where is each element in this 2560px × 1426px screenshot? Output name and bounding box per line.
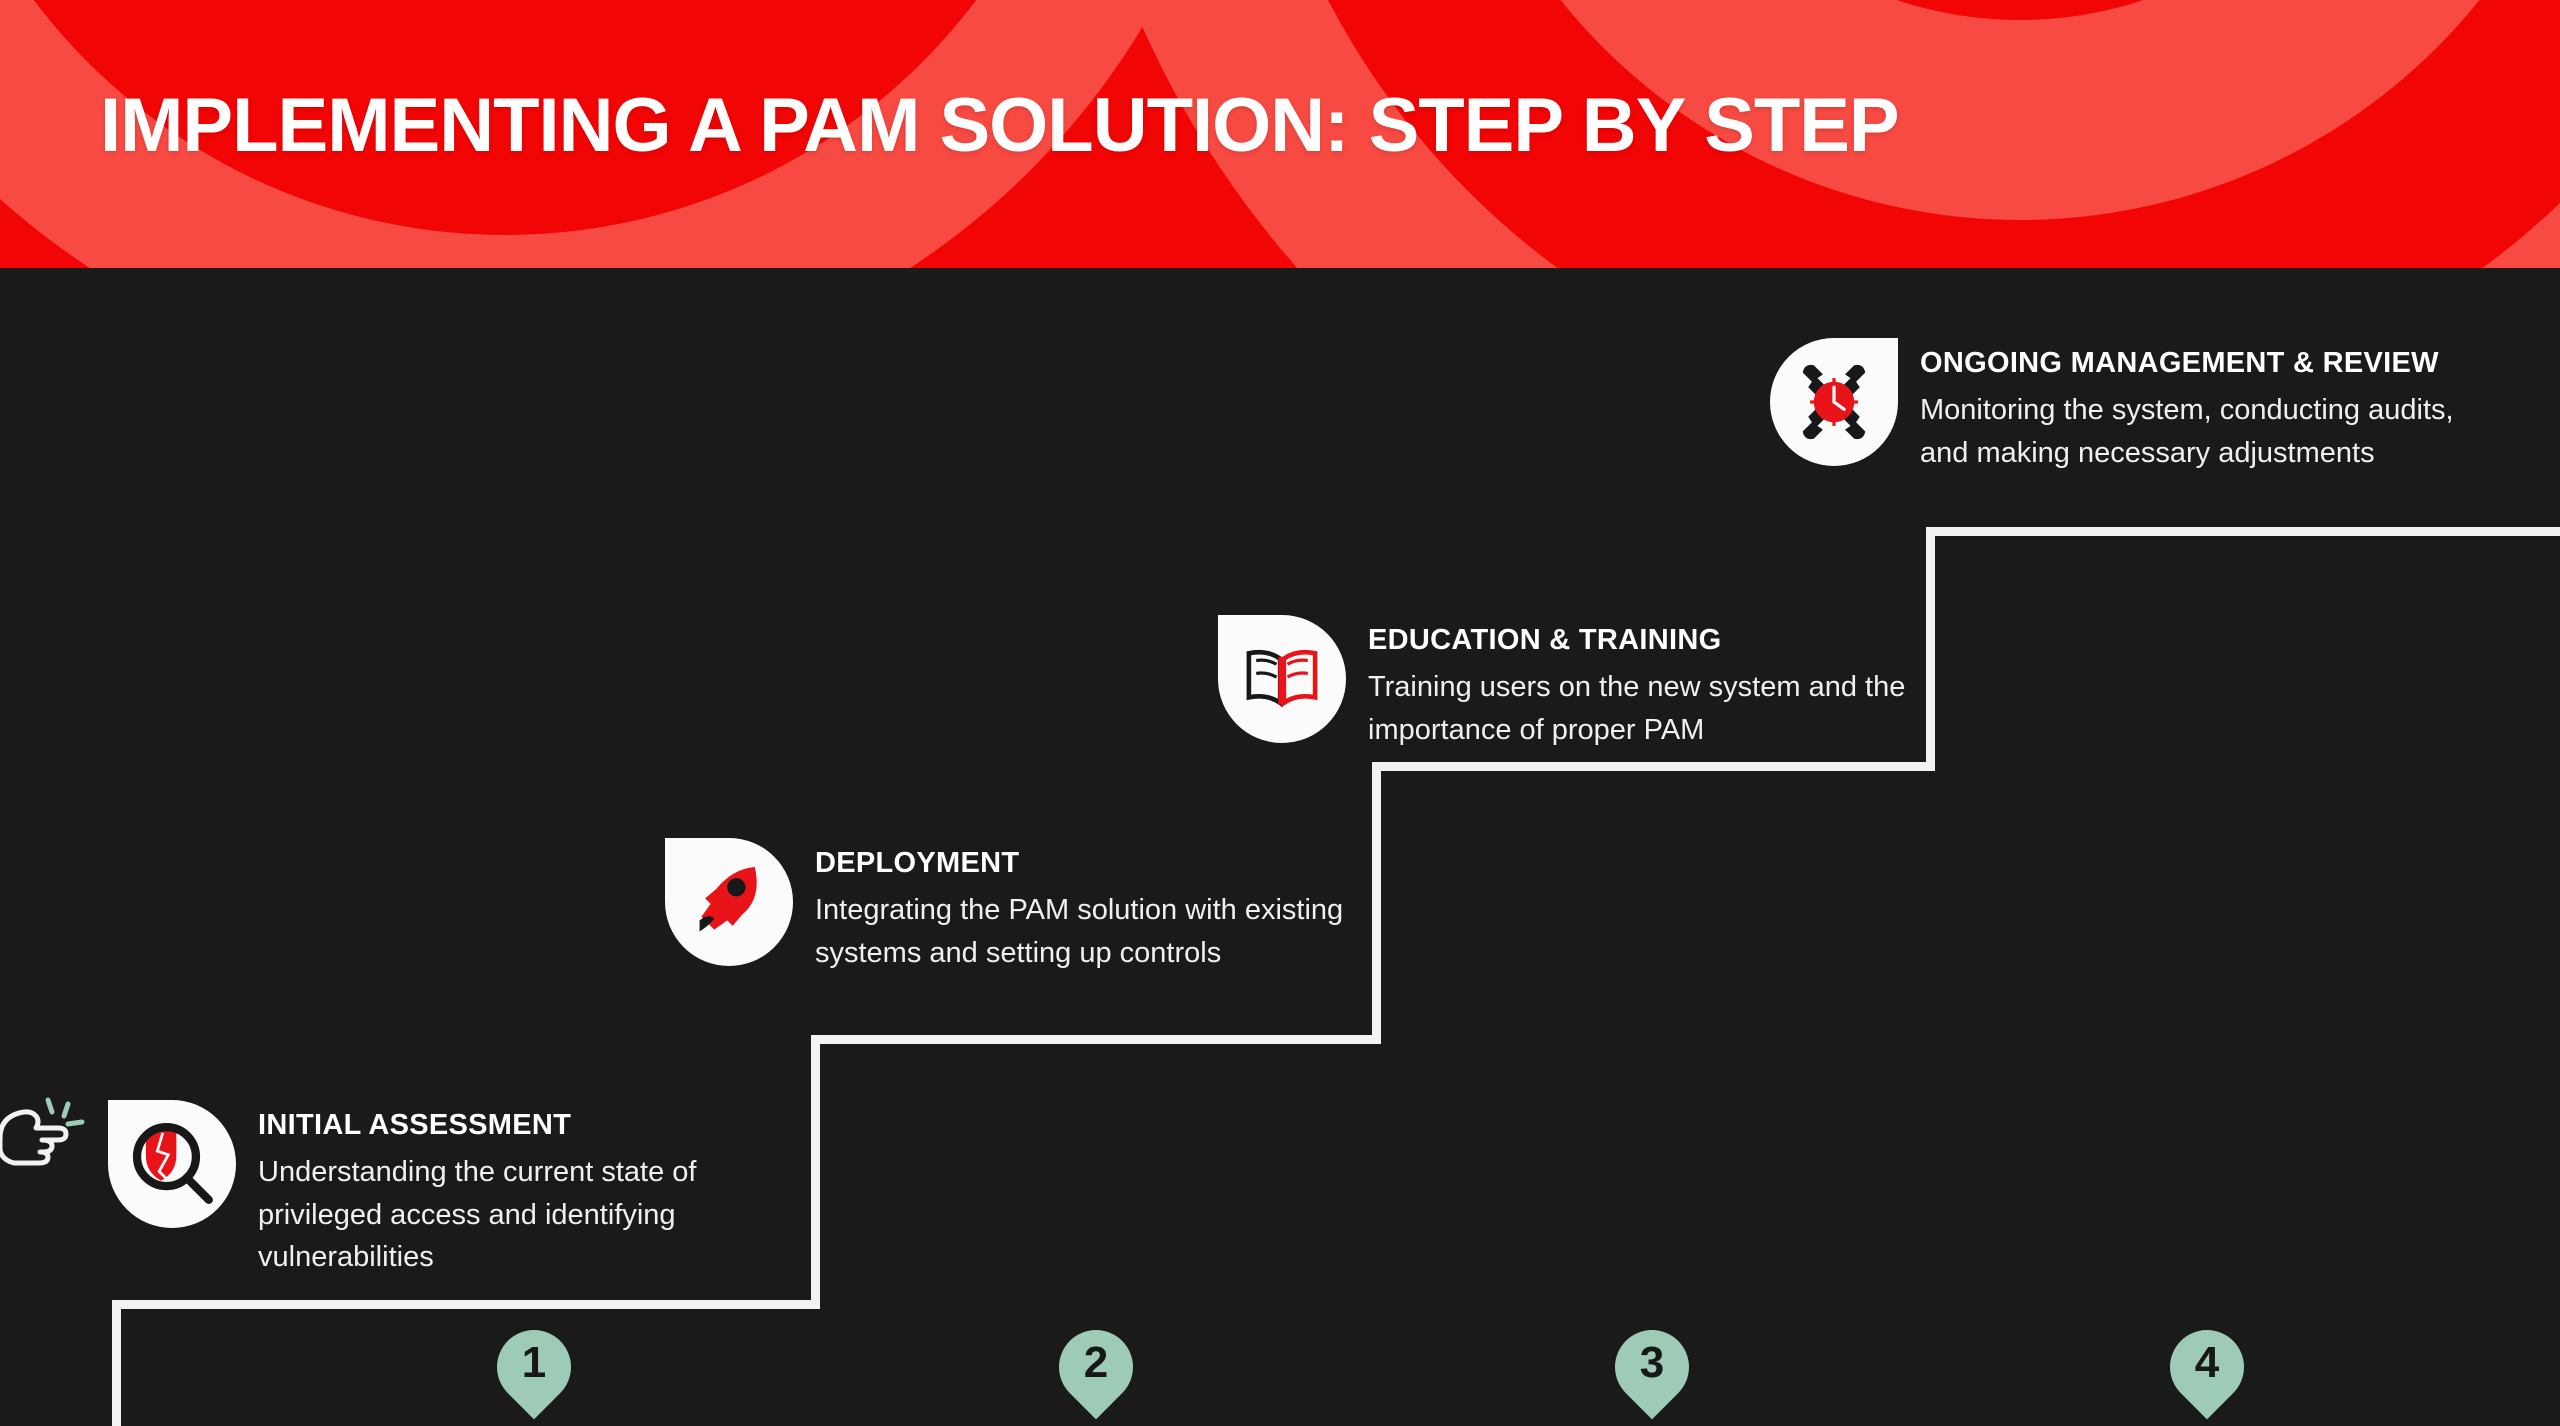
- stair-riser-1: [112, 1300, 121, 1426]
- step-2-icon-badge: [665, 838, 793, 966]
- step-3-title: EDUCATION & TRAINING: [1368, 625, 1908, 657]
- rocket-icon: [683, 856, 775, 948]
- page-title: IMPLEMENTING A PAM SOLUTION: STEP BY STE…: [100, 82, 1899, 169]
- wrenches-clock-icon: [1788, 356, 1880, 448]
- mouse-cursor: [0, 1094, 86, 1174]
- step-4-text: ONGOING MANAGEMENT & REVIEW Monitoring t…: [1920, 338, 2460, 474]
- stair-tread-2: [811, 1035, 1381, 1044]
- step-pin-2[interactable]: 2: [1059, 1330, 1133, 1426]
- stair-riser-3: [1372, 762, 1381, 1044]
- step-1-icon-badge: [108, 1100, 236, 1228]
- step-4-title: ONGOING MANAGEMENT & REVIEW: [1920, 348, 2460, 380]
- stair-riser-4: [1926, 527, 1935, 771]
- magnifier-shield-icon: [126, 1118, 218, 1210]
- stair-riser-2: [811, 1035, 820, 1309]
- step-pin-1[interactable]: 1: [497, 1330, 571, 1426]
- stair-tread-4: [1926, 527, 2560, 536]
- pin-number: 3: [1615, 1338, 1689, 1388]
- page-header: IMPLEMENTING A PAM SOLUTION: STEP BY STE…: [0, 0, 2560, 268]
- step-2-title: DEPLOYMENT: [815, 848, 1355, 880]
- step-4-description: Monitoring the system, conducting audits…: [1920, 389, 2460, 474]
- step-1-description: Understanding the current state of privi…: [258, 1151, 798, 1279]
- step-1-title: INITIAL ASSESSMENT: [258, 1110, 798, 1142]
- step-3-text: EDUCATION & TRAINING Training users on t…: [1368, 615, 1908, 751]
- step-item-3[interactable]: EDUCATION & TRAINING Training users on t…: [1218, 615, 1908, 751]
- open-book-icon: [1236, 633, 1328, 725]
- step-3-description: Training users on the new system and the…: [1368, 666, 1908, 751]
- step-2-description: Integrating the PAM solution with existi…: [815, 889, 1355, 974]
- step-pin-3[interactable]: 3: [1615, 1330, 1689, 1426]
- pin-number: 2: [1059, 1338, 1133, 1388]
- stair-tread-1: [112, 1300, 820, 1309]
- step-1-text: INITIAL ASSESSMENT Understanding the cur…: [258, 1100, 798, 1279]
- step-item-1[interactable]: INITIAL ASSESSMENT Understanding the cur…: [108, 1100, 798, 1279]
- stair-tread-3: [1372, 762, 1935, 771]
- step-item-2[interactable]: DEPLOYMENT Integrating the PAM solution …: [665, 838, 1355, 974]
- step-3-icon-badge: [1218, 615, 1346, 743]
- step-2-text: DEPLOYMENT Integrating the PAM solution …: [815, 838, 1355, 974]
- pointing-hand-click-icon: [0, 1094, 86, 1174]
- step-4-icon-badge: [1770, 338, 1898, 466]
- step-item-4[interactable]: ONGOING MANAGEMENT & REVIEW Monitoring t…: [1770, 338, 2460, 474]
- pin-number: 4: [2170, 1338, 2244, 1388]
- step-pin-4[interactable]: 4: [2170, 1330, 2244, 1426]
- pin-number: 1: [497, 1338, 571, 1388]
